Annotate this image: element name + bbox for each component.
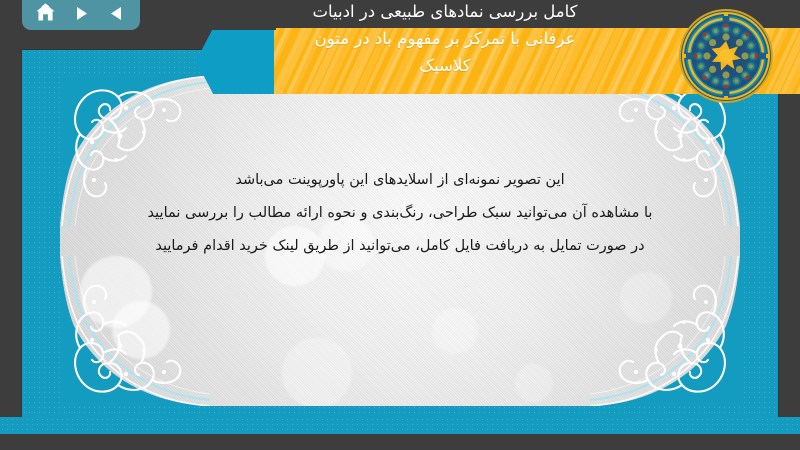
slide-content-area: این تصویر نمونه‌ای از اسلایدهای این پاور… [60,76,740,406]
body-line-2: با مشاهده آن می‌توانید سبک طراحی، رنگ‌بن… [84,197,716,230]
slide-body-text: این تصویر نمونه‌ای از اسلایدهای این پاور… [60,164,740,263]
next-button[interactable] [68,1,94,25]
previous-button[interactable] [103,1,129,25]
slide-preview-stage: کامل بررسی نمادهای طبیعی در ادبیات عرفان… [0,0,800,450]
bokeh-circle [282,338,352,406]
ribbon-tail-shadow [196,18,276,30]
slide-panel: این تصویر نمونه‌ای از اسلایدهای این پاور… [22,50,778,432]
bokeh-circle [432,308,478,354]
bokeh-circle [112,301,170,359]
bokeh-circle [620,272,672,324]
body-line-1: این تصویر نمونه‌ای از اسلایدهای این پاور… [84,164,716,197]
bokeh-circle [515,364,553,402]
next-triangle-icon [73,5,90,22]
persian-medallion-icon [678,8,774,104]
footer-bar [0,434,800,450]
home-icon [35,3,56,23]
body-line-3: در صورت تمایل به دریافت فایل کامل، می‌تو… [84,230,716,263]
home-button[interactable] [33,1,59,25]
previous-triangle-icon [108,5,125,22]
navigation-bar [22,0,140,30]
